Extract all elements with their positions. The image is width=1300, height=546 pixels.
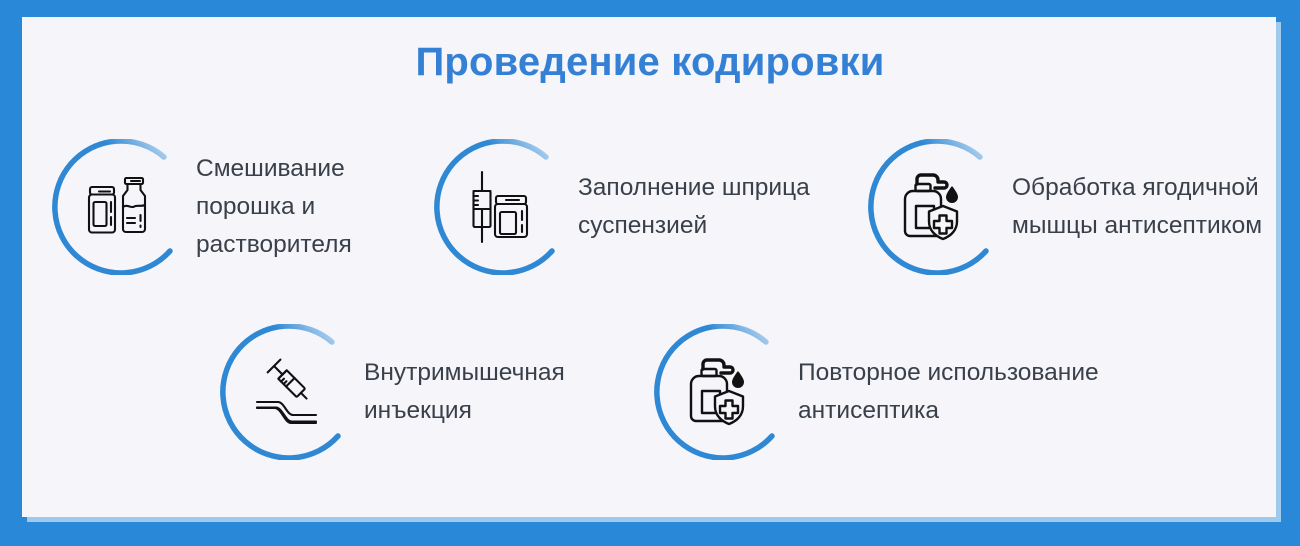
step-badge-1 bbox=[52, 139, 188, 275]
step-badge-5 bbox=[654, 324, 790, 460]
step-item-3: Обработка ягодичной мышцы антисептиком bbox=[868, 139, 1262, 275]
step-label-1: Смешивание порошка и растворителя bbox=[196, 150, 352, 264]
step-badge-4 bbox=[220, 324, 356, 460]
step-item-2: Заполнение шприца суспензией bbox=[434, 139, 810, 275]
step-badge-3 bbox=[868, 139, 1004, 275]
page-title: Проведение кодировки bbox=[0, 40, 1300, 85]
infographic-canvas: Проведение кодировки bbox=[0, 0, 1300, 546]
step-item-4: Внутримышечная инъекция bbox=[220, 324, 565, 460]
antiseptic-shield-icon bbox=[685, 355, 759, 429]
syringe-vial-icon bbox=[465, 170, 539, 244]
step-item-5: Повторное использование антисептика bbox=[654, 324, 1099, 460]
step-label-5: Повторное использование антисептика bbox=[798, 354, 1099, 430]
vials-powder-solvent-icon bbox=[83, 170, 157, 244]
step-label-2: Заполнение шприца суспензией bbox=[578, 169, 810, 245]
step-label-3: Обработка ягодичной мышцы антисептиком bbox=[1012, 169, 1262, 245]
step-badge-2 bbox=[434, 139, 570, 275]
step-item-1: Смешивание порошка и растворителя bbox=[52, 139, 352, 275]
antiseptic-shield-icon bbox=[899, 170, 973, 244]
step-label-4: Внутримышечная инъекция bbox=[364, 354, 565, 430]
intramuscular-injection-icon bbox=[251, 355, 325, 429]
